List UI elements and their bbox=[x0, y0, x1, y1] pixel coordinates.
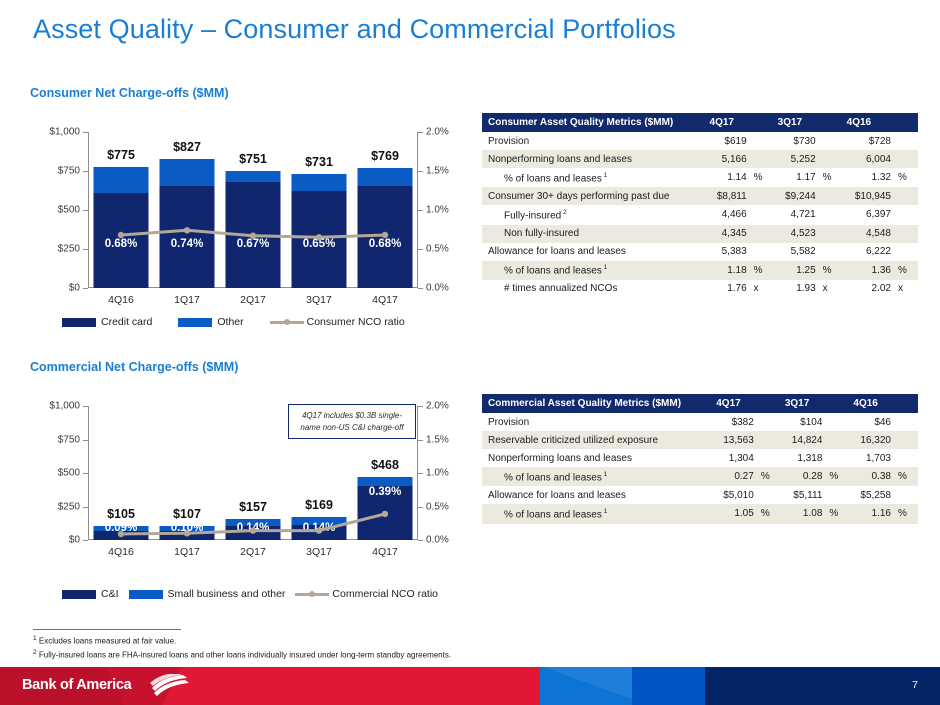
table-cell-unit bbox=[751, 150, 774, 168]
table-cell-value: 6,397 bbox=[843, 205, 895, 224]
y-axis-right-tick bbox=[418, 171, 423, 172]
table-header-period: 3Q17 bbox=[774, 113, 843, 132]
y-axis-right-tick bbox=[418, 288, 423, 289]
table-row: Provision$619$730$728 bbox=[482, 132, 918, 150]
y-axis-right-tick-label: 0.5% bbox=[426, 244, 449, 255]
page-number: 7 bbox=[912, 679, 918, 691]
table-cell-value: 1.76 bbox=[706, 280, 751, 298]
table-cell-unit: x bbox=[751, 280, 774, 298]
table-row: % of loans and leases 11.18%1.25%1.36% bbox=[482, 261, 918, 280]
table-cell-unit: % bbox=[895, 467, 918, 486]
table-cell-unit: % bbox=[751, 261, 774, 280]
commercial-chart-legend: C&I Small business and other Commercial … bbox=[62, 588, 438, 600]
legend-line-marker-icon bbox=[295, 590, 329, 599]
y-axis-left-tick-label: $0 bbox=[69, 535, 80, 546]
table-cell-value: 1.05 bbox=[712, 504, 758, 523]
footnote-text-2: Fully-insured loans are FHA-insured loan… bbox=[39, 651, 451, 660]
y-axis-right-tick bbox=[418, 473, 423, 474]
table-cell-unit: % bbox=[895, 261, 918, 280]
y-axis-left-tick bbox=[83, 406, 88, 407]
table-cell-value: 1.25 bbox=[774, 261, 820, 280]
table-cell-unit: % bbox=[820, 261, 843, 280]
table-cell-unit bbox=[758, 413, 781, 431]
table-row-label: Provision bbox=[482, 413, 712, 431]
table-cell-value: $619 bbox=[706, 132, 751, 150]
table-cell-value: $10,945 bbox=[843, 187, 895, 205]
x-axis-tick-label: 4Q17 bbox=[372, 294, 398, 306]
table-row-label: % of loans and leases 1 bbox=[482, 504, 712, 523]
table-cell-value: 1,304 bbox=[712, 449, 758, 467]
table-cell-unit bbox=[895, 243, 918, 261]
footnote-1: 1 Excludes loans measured at fair value. bbox=[33, 635, 176, 646]
nco-ratio-point bbox=[250, 233, 256, 239]
table-row-footnote-marker: 1 bbox=[602, 172, 607, 179]
table-cell-value: 1,703 bbox=[849, 449, 895, 467]
table-row-footnote-marker: 1 bbox=[602, 508, 607, 515]
legend-swatch-light-icon bbox=[129, 590, 163, 599]
y-axis-right-tick-label: 1.0% bbox=[426, 468, 449, 479]
footnote-marker-2: 2 bbox=[33, 649, 37, 656]
table-cell-unit bbox=[895, 225, 918, 243]
consumer-chart-legend: Credit card Other Consumer NCO ratio bbox=[62, 316, 405, 328]
legend-item-small-business: Small business and other bbox=[129, 588, 286, 600]
x-axis-tick-label: 1Q17 bbox=[174, 294, 200, 306]
y-axis-left-tick bbox=[83, 171, 88, 172]
consumer-chart-plot: $7750.68%4Q16$8270.74%1Q17$7510.67%2Q17$… bbox=[88, 132, 418, 288]
table-header-period: 4Q16 bbox=[843, 113, 918, 132]
table-cell-unit bbox=[895, 413, 918, 431]
table-cell-value: $5,258 bbox=[849, 486, 895, 504]
legend-label-line: Commercial NCO ratio bbox=[332, 588, 438, 600]
table-cell-unit: % bbox=[751, 168, 774, 187]
y-axis-right-tick-label: 1.5% bbox=[426, 166, 449, 177]
y-axis-right-tick-label: 2.0% bbox=[426, 401, 449, 412]
table-cell-unit bbox=[820, 243, 843, 261]
table-cell-value: 4,345 bbox=[706, 225, 751, 243]
table-cell-unit bbox=[895, 486, 918, 504]
y-axis-right-tick bbox=[418, 540, 423, 541]
table-row: Nonperforming loans and leases5,1665,252… bbox=[482, 150, 918, 168]
footnote-text-1: Excludes loans measured at fair value. bbox=[39, 637, 176, 646]
table-row: Non fully-insured4,3454,5234,548 bbox=[482, 225, 918, 243]
table-cell-unit bbox=[751, 132, 774, 150]
table-row-label: % of loans and leases 1 bbox=[482, 467, 712, 486]
table-cell-unit bbox=[895, 205, 918, 224]
table-row: Nonperforming loans and leases1,3041,318… bbox=[482, 449, 918, 467]
table-row-label: Allowance for loans and leases bbox=[482, 243, 706, 261]
table-cell-value: 14,824 bbox=[781, 431, 827, 449]
table-header-period: 3Q17 bbox=[781, 394, 850, 413]
table-cell-unit bbox=[758, 449, 781, 467]
table-cell-value: 1.93 bbox=[774, 280, 820, 298]
table-row-label: Non fully-insured bbox=[482, 225, 706, 243]
table-row: Allowance for loans and leases5,3835,582… bbox=[482, 243, 918, 261]
table-cell-unit bbox=[826, 431, 849, 449]
nco-ratio-point bbox=[118, 232, 124, 238]
x-axis-tick-label: 3Q17 bbox=[306, 294, 332, 306]
y-axis-left-tick-label: $250 bbox=[58, 244, 80, 255]
slide: Asset Quality – Consumer and Commercial … bbox=[0, 0, 940, 705]
table-header-period: 4Q16 bbox=[849, 394, 918, 413]
table-cell-value: $8,811 bbox=[706, 187, 751, 205]
table-cell-value: 4,721 bbox=[774, 205, 820, 224]
table-row-label: Nonperforming loans and leases bbox=[482, 449, 712, 467]
y-axis-right-tick-label: 2.0% bbox=[426, 127, 449, 138]
table-cell-value: 1.32 bbox=[843, 168, 895, 187]
table-header-period: 4Q17 bbox=[706, 113, 774, 132]
nco-ratio-point bbox=[382, 232, 388, 238]
table-cell-unit bbox=[751, 243, 774, 261]
table-cell-value: 5,582 bbox=[774, 243, 820, 261]
table-row: Allowance for loans and leases$5,010$5,1… bbox=[482, 486, 918, 504]
table-cell-unit: % bbox=[826, 504, 849, 523]
y-axis-right-tick-label: 1.5% bbox=[426, 434, 449, 445]
y-axis-left-tick bbox=[83, 473, 88, 474]
table-row-label: % of loans and leases 1 bbox=[482, 261, 706, 280]
footer-navy-band bbox=[705, 667, 940, 705]
table-cell-unit bbox=[751, 225, 774, 243]
table-cell-value: $728 bbox=[843, 132, 895, 150]
table-cell-value: 0.38 bbox=[849, 467, 895, 486]
table-cell-unit: x bbox=[895, 280, 918, 298]
table-cell-unit bbox=[895, 449, 918, 467]
table-cell-value: 0.27 bbox=[712, 467, 758, 486]
table-cell-unit bbox=[820, 205, 843, 224]
table-row: Consumer 30+ days performing past due$8,… bbox=[482, 187, 918, 205]
footnote-marker-1: 1 bbox=[33, 635, 37, 642]
table-cell-value: $46 bbox=[849, 413, 895, 431]
table-cell-value: $382 bbox=[712, 413, 758, 431]
table-cell-unit: % bbox=[895, 168, 918, 187]
legend-label-dark: Credit card bbox=[101, 316, 152, 328]
table-row: % of loans and leases 10.27%0.28%0.38% bbox=[482, 467, 918, 486]
table-cell-value: 4,466 bbox=[706, 205, 751, 224]
table-cell-value: $730 bbox=[774, 132, 820, 150]
legend-item-consumer-nco-ratio: Consumer NCO ratio bbox=[270, 316, 405, 328]
y-axis-left-tick-label: $500 bbox=[58, 205, 80, 216]
table-cell-value: 4,548 bbox=[843, 225, 895, 243]
y-axis-right-tick-label: 1.0% bbox=[426, 205, 449, 216]
table-cell-unit bbox=[758, 431, 781, 449]
table-cell-unit: % bbox=[820, 168, 843, 187]
y-axis-left-tick-label: $250 bbox=[58, 501, 80, 512]
table-cell-unit bbox=[758, 486, 781, 504]
footnote-divider bbox=[33, 629, 181, 630]
table-body: Provision$619$730$728Nonperforming loans… bbox=[482, 132, 918, 298]
legend-swatch-dark-icon bbox=[62, 318, 96, 327]
table-cell-value: 1.17 bbox=[774, 168, 820, 187]
table-cell-value: 1.08 bbox=[781, 504, 827, 523]
y-axis-right-tick bbox=[418, 440, 423, 441]
y-axis-left-tick-label: $750 bbox=[58, 166, 80, 177]
page-title: Asset Quality – Consumer and Commercial … bbox=[33, 14, 676, 45]
y-axis-left-tick bbox=[83, 507, 88, 508]
table-body: Provision$382$104$46Reservable criticize… bbox=[482, 413, 918, 524]
table-cell-value: 6,222 bbox=[843, 243, 895, 261]
table-cell-unit bbox=[895, 431, 918, 449]
y-axis-left-tick bbox=[83, 540, 88, 541]
table-cell-unit: % bbox=[895, 504, 918, 523]
table-row-label: Fully-insured 2 bbox=[482, 205, 706, 224]
y-axis-right-tick bbox=[418, 507, 423, 508]
table-cell-value: $5,010 bbox=[712, 486, 758, 504]
table-cell-unit: % bbox=[758, 467, 781, 486]
y-axis-left-tick-label: $1,000 bbox=[49, 127, 80, 138]
x-axis-tick-label: 4Q16 bbox=[108, 294, 134, 306]
y-axis-left-tick-label: $1,000 bbox=[49, 401, 80, 412]
y-axis-right-tick bbox=[418, 249, 423, 250]
table-cell-unit bbox=[820, 187, 843, 205]
y-axis-left-tick bbox=[83, 132, 88, 133]
table-cell-value: 1.18 bbox=[706, 261, 751, 280]
table-header-title: Consumer Asset Quality Metrics ($MM) bbox=[482, 113, 706, 132]
legend-item-commercial-nco-ratio: Commercial NCO ratio bbox=[295, 588, 438, 600]
nco-ratio-point bbox=[184, 530, 190, 536]
table-header-period: 4Q17 bbox=[712, 394, 781, 413]
table-cell-unit bbox=[895, 187, 918, 205]
table-cell-value: $104 bbox=[781, 413, 827, 431]
table-cell-unit bbox=[826, 449, 849, 467]
slide-footer: Bank of America 7 bbox=[0, 667, 940, 705]
table-row-label: Allowance for loans and leases bbox=[482, 486, 712, 504]
table-row-label: Nonperforming loans and leases bbox=[482, 150, 706, 168]
y-axis-right-tick bbox=[418, 406, 423, 407]
table-cell-unit: x bbox=[820, 280, 843, 298]
table-cell-unit bbox=[820, 132, 843, 150]
legend-item-other: Other bbox=[178, 316, 243, 328]
table-cell-unit: % bbox=[826, 467, 849, 486]
table-row-footnote-marker: 1 bbox=[602, 471, 607, 478]
consumer-section-heading: Consumer Net Charge-offs ($MM) bbox=[30, 86, 229, 100]
bank-of-america-flag-icon bbox=[150, 674, 190, 698]
y-axis-right-tick-label: 0.0% bbox=[426, 283, 449, 294]
legend-item-credit-card: Credit card bbox=[62, 316, 152, 328]
legend-label-light: Small business and other bbox=[168, 588, 286, 600]
y-axis-left-tick bbox=[83, 249, 88, 250]
table-row: % of loans and leases 11.05%1.08%1.16% bbox=[482, 504, 918, 523]
y-axis-left-tick-label: $0 bbox=[69, 283, 80, 294]
table-cell-value: 4,523 bbox=[774, 225, 820, 243]
consumer-nco-ratio-line bbox=[88, 132, 388, 282]
table-cell-value: 6,004 bbox=[843, 150, 895, 168]
nco-ratio-point bbox=[184, 227, 190, 233]
table-cell-value: 16,320 bbox=[849, 431, 895, 449]
commercial-section-heading: Commercial Net Charge-offs ($MM) bbox=[30, 360, 238, 374]
table-cell-value: 0.28 bbox=[781, 467, 827, 486]
table-row-label: Provision bbox=[482, 132, 706, 150]
table-cell-unit bbox=[895, 132, 918, 150]
y-axis-left-tick bbox=[83, 440, 88, 441]
y-axis-right-tick bbox=[418, 132, 423, 133]
table-row-label: # times annualized NCOs bbox=[482, 280, 706, 298]
table-row-label: Reservable criticized utilized exposure bbox=[482, 431, 712, 449]
table-row-label: Consumer 30+ days performing past due bbox=[482, 187, 706, 205]
table-cell-unit bbox=[826, 413, 849, 431]
y-axis-left-tick bbox=[83, 288, 88, 289]
table-cell-value: 13,563 bbox=[712, 431, 758, 449]
table-cell-value: 5,383 bbox=[706, 243, 751, 261]
legend-item-ci: C&I bbox=[62, 588, 119, 600]
table-row-label: % of loans and leases 1 bbox=[482, 168, 706, 187]
table-cell-unit bbox=[826, 486, 849, 504]
consumer-asset-quality-table: Consumer Asset Quality Metrics ($MM)4Q17… bbox=[482, 113, 918, 298]
legend-label-dark: C&I bbox=[101, 588, 119, 600]
bank-of-america-wordmark: Bank of America bbox=[22, 677, 131, 693]
table-row: % of loans and leases 11.14%1.17%1.32% bbox=[482, 168, 918, 187]
y-axis-right-tick-label: 0.0% bbox=[426, 535, 449, 546]
nco-ratio-point bbox=[118, 531, 124, 537]
table-cell-value: 5,166 bbox=[706, 150, 751, 168]
legend-label-light: Other bbox=[217, 316, 243, 328]
nco-ratio-point bbox=[316, 234, 322, 240]
nco-ratio-point bbox=[250, 527, 256, 533]
consumer-nco-chart: $7750.68%4Q16$8270.74%1Q17$7510.67%2Q17$… bbox=[26, 126, 478, 316]
table-row-footnote-marker: 1 bbox=[602, 264, 607, 271]
table-cell-value: 1.14 bbox=[706, 168, 751, 187]
table-header-row: Consumer Asset Quality Metrics ($MM)4Q17… bbox=[482, 113, 918, 132]
chart-annotation-callout: 4Q17 includes $0.3B single-name non-US C… bbox=[288, 404, 416, 439]
legend-swatch-light-icon bbox=[178, 318, 212, 327]
legend-line-marker-icon bbox=[270, 318, 304, 327]
legend-label-line: Consumer NCO ratio bbox=[307, 316, 405, 328]
table-cell-unit: % bbox=[758, 504, 781, 523]
y-axis-left-tick bbox=[83, 210, 88, 211]
y-axis-right-tick bbox=[418, 210, 423, 211]
table-row: # times annualized NCOs1.76x1.93x2.02x bbox=[482, 280, 918, 298]
table-cell-unit bbox=[895, 150, 918, 168]
table-row: Reservable criticized utilized exposure1… bbox=[482, 431, 918, 449]
y-axis-left-tick-label: $750 bbox=[58, 434, 80, 445]
nco-ratio-point bbox=[382, 511, 388, 517]
table-header-title: Commercial Asset Quality Metrics ($MM) bbox=[482, 394, 712, 413]
table-cell-value: $5,111 bbox=[781, 486, 827, 504]
table-row: Fully-insured 24,4664,7216,397 bbox=[482, 205, 918, 224]
table-row: Provision$382$104$46 bbox=[482, 413, 918, 431]
table-cell-value: 2.02 bbox=[843, 280, 895, 298]
table-cell-unit bbox=[820, 150, 843, 168]
table-cell-unit bbox=[751, 205, 774, 224]
table-cell-value: 1,318 bbox=[781, 449, 827, 467]
table-cell-value: 1.16 bbox=[849, 504, 895, 523]
nco-ratio-point bbox=[316, 527, 322, 533]
table-cell-value: 5,252 bbox=[774, 150, 820, 168]
commercial-asset-quality-table: Commercial Asset Quality Metrics ($MM)4Q… bbox=[482, 394, 918, 524]
footer-light-blue-diagonal bbox=[540, 667, 636, 705]
table-cell-unit bbox=[751, 187, 774, 205]
y-axis-right-tick-label: 0.5% bbox=[426, 501, 449, 512]
table-cell-value: $9,244 bbox=[774, 187, 820, 205]
table-cell-value: 1.36 bbox=[843, 261, 895, 280]
legend-swatch-dark-icon bbox=[62, 590, 96, 599]
x-axis-tick-label: 2Q17 bbox=[240, 294, 266, 306]
footer-mid-blue-band bbox=[632, 667, 705, 705]
table-header-row: Commercial Asset Quality Metrics ($MM)4Q… bbox=[482, 394, 918, 413]
table-row-footnote-marker: 2 bbox=[561, 209, 566, 216]
table-cell-unit bbox=[820, 225, 843, 243]
footnote-2: 2 Fully-insured loans are FHA-insured lo… bbox=[33, 649, 451, 660]
y-axis-left-tick-label: $500 bbox=[58, 468, 80, 479]
